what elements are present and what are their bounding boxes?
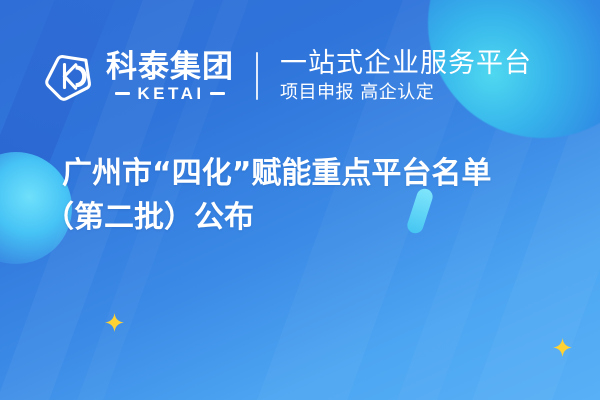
headline-line-2: （第二批）公布 (44, 196, 566, 240)
sparkle-star-icon (105, 313, 124, 332)
slogan-sub-text: 项目申报 高企认定 (280, 82, 532, 104)
headline-block: 广州市“四化”赋能重点平台名单 （第二批）公布 (0, 152, 600, 240)
dash-right-decor (210, 92, 225, 95)
banner-header: 科泰集团 KETAI 一站式企业服务平台 项目申报 高企认定 (0, 34, 600, 118)
brand-logo: 科泰集团 KETAI (44, 50, 234, 103)
slogan-main-text: 一站式企业服务平台 (280, 48, 532, 79)
sparkle-star-icon (553, 338, 572, 357)
brand-name-en: KETAI (137, 85, 204, 103)
brand-wordmark: 科泰集团 KETAI (106, 50, 234, 103)
slogan-block: 一站式企业服务平台 项目申报 高企认定 (280, 48, 532, 104)
brand-name-cn: 科泰集团 (106, 50, 234, 84)
vertical-divider (256, 52, 258, 100)
promo-banner: 科泰集团 KETAI 一站式企业服务平台 项目申报 高企认定 广州市“四化”赋能… (0, 0, 600, 400)
brand-name-en-row: KETAI (115, 85, 224, 103)
ketai-diamond-monogram-icon (44, 50, 96, 102)
dash-left-decor (115, 92, 130, 95)
headline-line-1: 广州市“四化”赋能重点平台名单 (62, 152, 566, 196)
